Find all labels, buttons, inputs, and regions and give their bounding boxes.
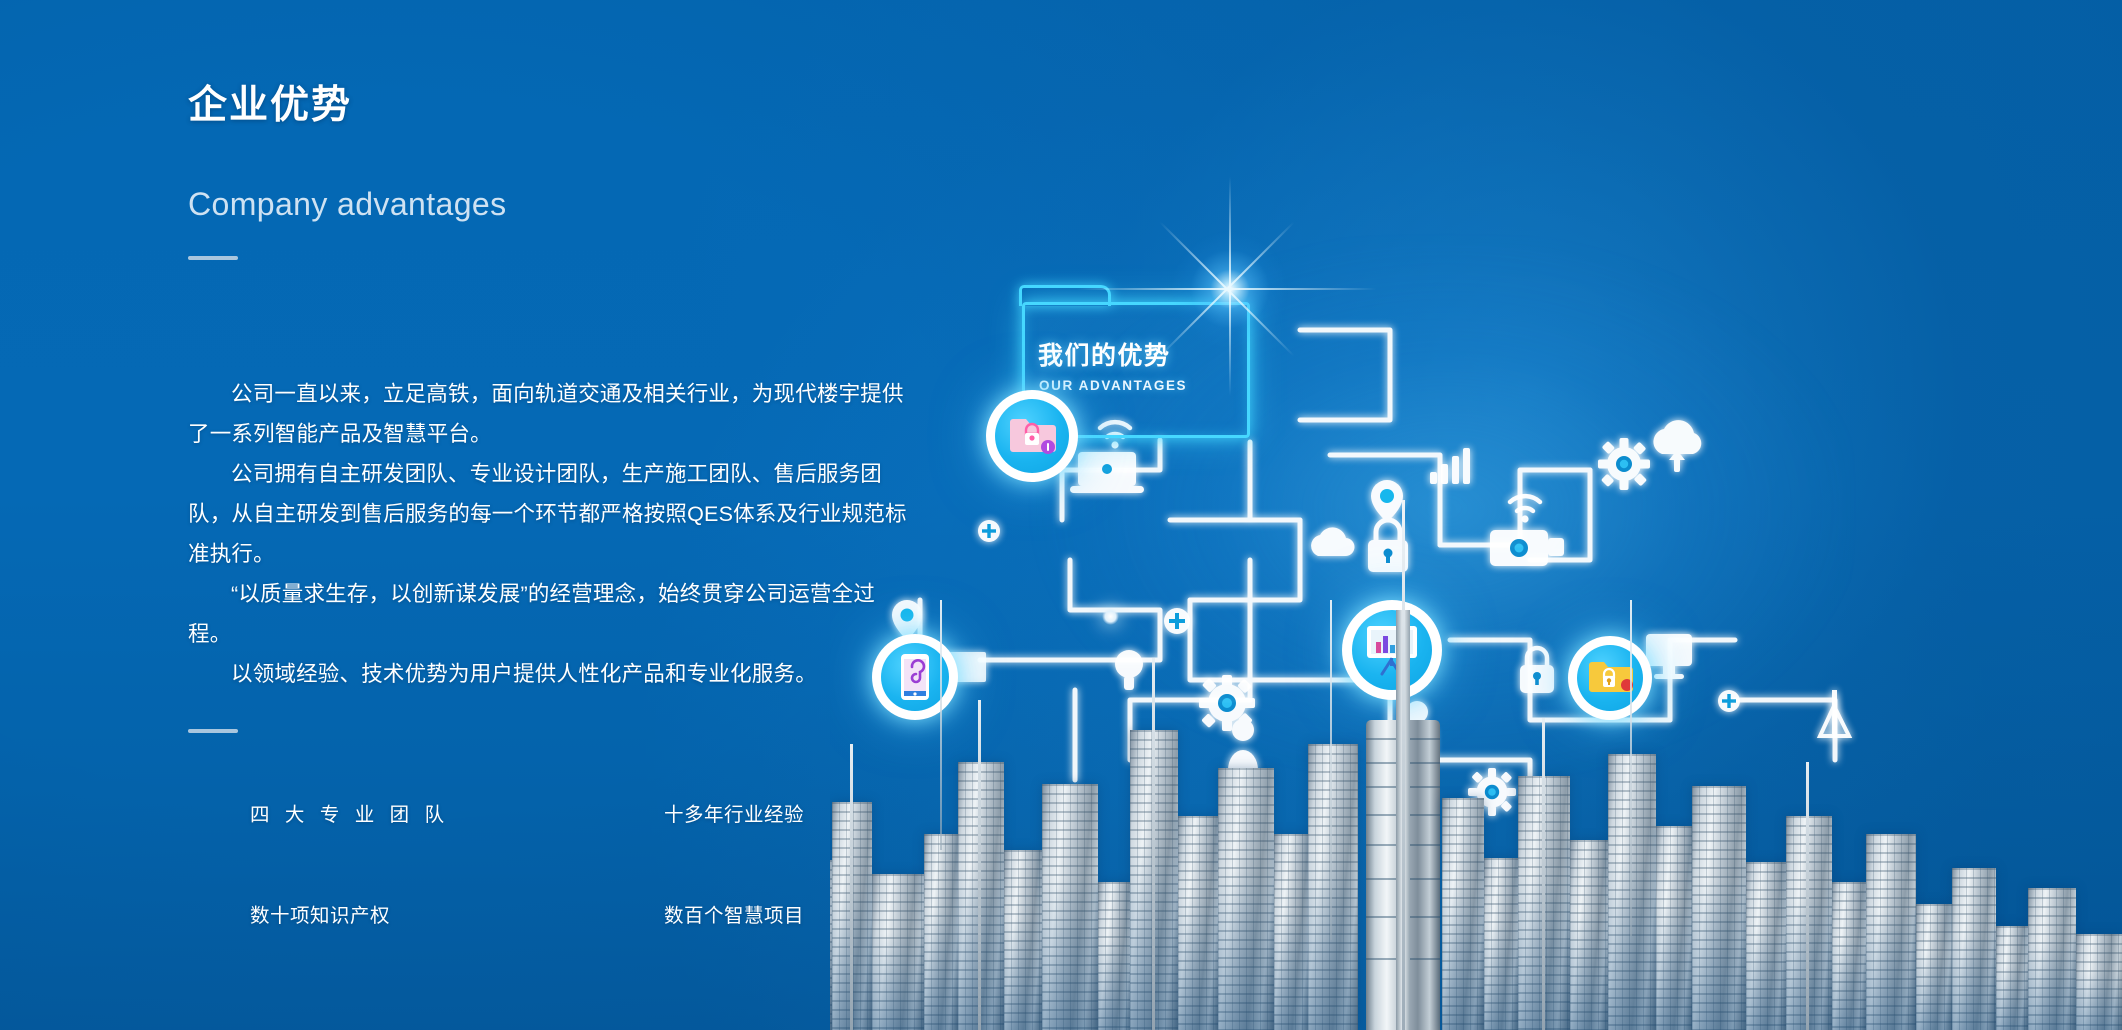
plus-node-icon [978, 520, 1000, 542]
building [1832, 882, 1866, 1030]
building-spire [978, 700, 981, 1030]
cloud-upload-icon [1653, 420, 1701, 472]
building [1484, 858, 1518, 1030]
page-title-en: Company advantages [188, 188, 507, 220]
building [958, 762, 1004, 1030]
building-spire [850, 744, 853, 1030]
building [1442, 798, 1484, 1030]
paragraph-4: 以领域经验、技术优势为用户提供人性化产品和专业化服务。 [188, 654, 913, 694]
card-title-cn: 我们的优势 [1038, 336, 1171, 372]
building [1656, 826, 1692, 1030]
stats-row: 数十项知识产权 数百个智慧项目 [250, 907, 890, 927]
paragraph-2: 公司拥有自主研发团队、专业设计团队，生产施工团队、售后服务团队，从自主研发到售后… [188, 454, 913, 574]
folder-lock-node[interactable] [986, 390, 1078, 482]
cloud-icon [1311, 527, 1354, 556]
building-antenna [1630, 600, 1632, 936]
building [1996, 926, 2028, 1030]
building [2028, 888, 2076, 1030]
tower-mast [1402, 500, 1405, 1030]
building [1042, 784, 1098, 1030]
smart-city-illustration: 我们的优势 OUR ADVANTAGES [830, 0, 2122, 1030]
building [1692, 786, 1746, 1030]
building [924, 834, 958, 1030]
folder-lock-icon [986, 390, 1078, 482]
building-spire [1806, 762, 1809, 1030]
stat-patents: 数十项知识产权 [250, 907, 664, 927]
gear-icon [1598, 438, 1650, 490]
map-pin-icon [1371, 480, 1403, 522]
building [1746, 862, 1786, 1030]
stats-row: 四 大 专 业 团 队 十多年行业经验 [250, 806, 890, 826]
building [1178, 816, 1218, 1030]
building [1916, 904, 1952, 1030]
page-root: 企业优势 Company advantages 公司一直以来，立足高铁，面向轨道… [0, 0, 2122, 1030]
stat-teams: 四 大 专 业 团 队 [250, 806, 664, 826]
building-antenna [940, 600, 942, 850]
building [1786, 816, 1832, 1030]
paragraph-3: “以质量求生存，以创新谋发展”的经营理念，始终贯穿公司运营全过程。 [188, 574, 913, 654]
building [1274, 834, 1310, 1030]
building [1952, 868, 1996, 1030]
body-divider [188, 729, 238, 733]
building [1098, 882, 1132, 1030]
building-antenna [1330, 600, 1332, 940]
page-title-cn: 企业优势 [188, 86, 352, 125]
paragraph-1: 公司一直以来，立足高铁，面向轨道交通及相关行业，为现代楼宇提供了一系列智能产品及… [188, 374, 913, 454]
title-divider [188, 256, 238, 260]
building-spire [1542, 718, 1545, 1030]
building [1570, 840, 1608, 1030]
moon-glow [1102, 608, 1119, 625]
building [1218, 768, 1274, 1030]
building [1308, 744, 1358, 1030]
city-skyline [830, 600, 2122, 1030]
building [1608, 754, 1656, 1030]
laptop-icon [1070, 452, 1144, 493]
stats-grid: 四 大 专 业 团 队 十多年行业经验 数十项知识产权 数百个智慧项目 [250, 806, 890, 926]
building-spire [1152, 658, 1155, 1030]
building [872, 874, 924, 1030]
content-column: 企业优势 Company advantages 公司一直以来，立足高铁，面向轨道… [188, 0, 928, 1030]
building [1866, 834, 1916, 1030]
building [1004, 850, 1042, 1030]
body-text: 公司一直以来，立足高铁，面向轨道交通及相关行业，为现代楼宇提供了一系列智能产品及… [188, 374, 913, 694]
building [2076, 934, 2122, 1030]
wifi-icon [1510, 496, 1540, 523]
